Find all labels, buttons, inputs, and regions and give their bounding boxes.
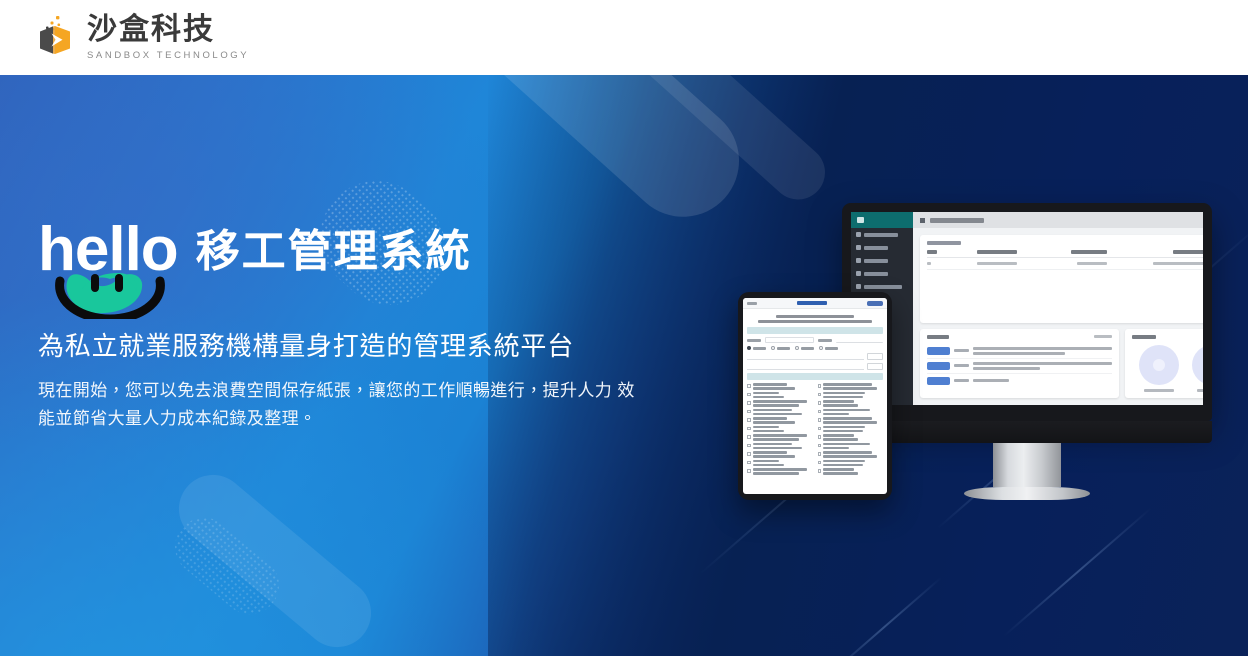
nationality-radio-group: [747, 346, 883, 350]
declaration-checkbox-item[interactable]: [818, 409, 884, 416]
back-button[interactable]: [747, 302, 757, 305]
checkbox-label: [753, 400, 813, 407]
user-avatar[interactable]: [867, 301, 883, 306]
table-row[interactable]: [927, 258, 1203, 271]
monitor-stand-neck: [993, 443, 1061, 487]
checkbox-label: [753, 409, 813, 416]
app-topbar: [913, 212, 1203, 228]
employer-search-row: [747, 353, 883, 360]
desktop-monitor-mockup: [842, 203, 1212, 500]
monitor-stand-base: [964, 487, 1090, 500]
checkbox-icon: [747, 469, 751, 473]
field-label: [818, 339, 832, 342]
checkbox-label: [823, 426, 883, 433]
notice-item[interactable]: [927, 359, 1112, 374]
notice-card: [920, 329, 1119, 399]
notice-text: [973, 347, 1112, 355]
radio-dot-icon: [819, 346, 823, 350]
field-label: [747, 339, 761, 342]
notice-date: [954, 349, 969, 352]
stat-donut-chart: [1192, 345, 1203, 385]
app-sidebar-logo: [851, 212, 913, 228]
notice-card-header: [927, 335, 1112, 339]
checkbox-label: [753, 434, 813, 441]
document-icon: [856, 284, 861, 289]
landing-page: 沙盒科技 SANDBOX TECHNOLOGY hello 移工管理系統: [0, 0, 1248, 656]
date-input[interactable]: [765, 337, 814, 343]
declaration-checkbox-item[interactable]: [818, 383, 884, 390]
checkbox-icon: [747, 393, 751, 397]
sidebar-item-label: [864, 285, 902, 289]
declaration-checkbox-item[interactable]: [818, 443, 884, 450]
checkbox-label: [753, 460, 813, 467]
checkbox-label: [823, 383, 883, 390]
notice-more-link[interactable]: [1094, 335, 1112, 338]
radio-dot-icon: [771, 346, 775, 350]
brand-name-en: SANDBOX TECHNOLOGY: [87, 51, 249, 61]
radio-option[interactable]: [747, 346, 766, 350]
worker-search-button[interactable]: [867, 363, 883, 370]
checkbox-label: [823, 443, 883, 450]
notice-card-title: [927, 335, 949, 339]
radio-option[interactable]: [771, 346, 790, 350]
notice-item[interactable]: [927, 374, 1112, 388]
declaration-checkbox-item[interactable]: [747, 409, 813, 416]
radio-label: [777, 347, 790, 350]
declaration-checkbox-item[interactable]: [747, 426, 813, 433]
app-content: [913, 228, 1203, 405]
declaration-checkbox-item[interactable]: [747, 443, 813, 450]
sidebar-item-label: [864, 259, 888, 263]
checkbox-label: [753, 383, 813, 390]
radio-option[interactable]: [795, 346, 814, 350]
worker-search-row: [747, 363, 883, 370]
stats-list: [1132, 339, 1203, 393]
employer-search-button[interactable]: [867, 353, 883, 360]
brand-text: 沙盒科技 SANDBOX TECHNOLOGY: [87, 15, 249, 61]
site-header: 沙盒科技 SANDBOX TECHNOLOGY: [0, 0, 1248, 75]
sidebar-item-staff[interactable]: [851, 241, 913, 254]
monitor-screen: [851, 212, 1203, 405]
brand-logo[interactable]: 沙盒科技 SANDBOX TECHNOLOGY: [32, 13, 249, 63]
notice-badge: [927, 362, 950, 370]
text-input[interactable]: [836, 337, 883, 343]
declaration-checkbox-item[interactable]: [818, 468, 884, 475]
sidebar-item-company[interactable]: [851, 228, 913, 241]
td-date: [977, 262, 1017, 266]
user-icon: [856, 245, 861, 250]
notice-item[interactable]: [927, 344, 1112, 359]
group-icon: [856, 271, 861, 276]
declaration-checkbox-grid: [747, 383, 883, 475]
checkbox-icon: [747, 427, 751, 431]
checkbox-label: [753, 417, 813, 424]
sidebar-item-employer[interactable]: [851, 267, 913, 280]
declaration-checkbox-item[interactable]: [818, 460, 884, 467]
radio-label: [801, 347, 814, 350]
checkbox-label: [753, 392, 813, 399]
tablet-navbar: [743, 298, 887, 309]
card-title: [927, 241, 961, 245]
stat-label: [1144, 389, 1174, 393]
form-row: [747, 337, 883, 343]
th-date: [977, 250, 1017, 254]
td-index: [927, 262, 931, 266]
notice-date: [954, 364, 969, 367]
stat-value: [1153, 359, 1165, 371]
app-title: [930, 218, 984, 223]
checkbox-icon: [818, 427, 822, 431]
tablet-mockup: [738, 292, 892, 500]
hero-banner: hello 移工管理系統 為私立就業服務機構量身打造的管理系統平台 現在開始，您…: [0, 75, 1248, 656]
checkbox-icon: [818, 410, 822, 414]
checkbox-icon: [747, 461, 751, 465]
declaration-checkbox-item[interactable]: [818, 451, 884, 458]
employer-search-input[interactable]: [747, 353, 864, 360]
checkbox-label: [753, 468, 813, 475]
declaration-checkbox-item[interactable]: [747, 434, 813, 441]
sidebar-item-label: [864, 246, 888, 250]
checkbox-label: [823, 417, 883, 424]
notice-badge: [927, 347, 950, 355]
checkbox-label: [823, 409, 883, 416]
checkbox-icon: [818, 384, 822, 388]
declaration-checkbox-item[interactable]: [747, 400, 813, 407]
tablet-form: [743, 309, 887, 494]
checkbox-label: [753, 451, 813, 458]
declaration-checkbox-item[interactable]: [818, 400, 884, 407]
checkbox-icon: [818, 461, 822, 465]
form-section-header-declaration: [747, 373, 883, 380]
radio-option[interactable]: [819, 346, 838, 350]
monitor-bezel: [842, 203, 1212, 421]
declaration-checkbox-item[interactable]: [747, 417, 813, 424]
stat-label: [1197, 389, 1203, 393]
form-section-header-basic: [747, 327, 883, 334]
form-title: [776, 315, 855, 318]
sidebar-item-migrant[interactable]: [851, 254, 913, 267]
dashboard-lower-row: [920, 329, 1203, 399]
notice-text: [973, 379, 1112, 382]
checkbox-label: [753, 443, 813, 450]
radio-label: [825, 347, 838, 350]
worker-search-input[interactable]: [747, 363, 864, 370]
declaration-checkbox-item[interactable]: [818, 392, 884, 399]
checkbox-label: [823, 400, 883, 407]
building-icon: [856, 232, 861, 237]
checkbox-label: [823, 392, 883, 399]
th-author: [1071, 250, 1107, 254]
declaration-checkbox-item[interactable]: [747, 468, 813, 475]
declaration-checkbox-item[interactable]: [747, 392, 813, 399]
checkbox-label: [823, 460, 883, 467]
stats-card: [1125, 329, 1203, 399]
checkbox-label: [753, 426, 813, 433]
checkbox-icon: [747, 410, 751, 414]
stat-item: [1192, 345, 1203, 393]
radio-dot-icon: [795, 346, 799, 350]
tablet-screen: [743, 298, 887, 494]
notice-text: [973, 362, 1112, 370]
declaration-checkbox-item[interactable]: [747, 460, 813, 467]
app-logo-icon: [857, 217, 864, 223]
checkbox-icon: [818, 435, 822, 439]
checkbox-icon: [747, 384, 751, 388]
checkbox-label: [823, 468, 883, 475]
td-author: [1077, 262, 1107, 266]
checkbox-label: [823, 451, 883, 458]
sidebar-item-label: [864, 272, 888, 276]
checkbox-icon: [818, 393, 822, 397]
checkbox-icon: [747, 452, 751, 456]
stats-card-title: [1132, 335, 1156, 339]
td-title: [1153, 262, 1203, 266]
th-title: [1173, 250, 1203, 254]
stat-item: [1139, 345, 1179, 393]
table-header-row: [927, 250, 1203, 258]
declaration-checkbox-item[interactable]: [818, 426, 884, 433]
declaration-checkbox-item[interactable]: [747, 383, 813, 390]
declaration-checkbox-item[interactable]: [818, 417, 884, 424]
notice-date: [954, 379, 969, 382]
sidebar-item-label: [864, 233, 898, 237]
id-card-icon: [856, 258, 861, 263]
checkbox-icon: [818, 452, 822, 456]
checkbox-icon: [747, 418, 751, 422]
notice-badge: [927, 377, 950, 385]
declaration-checkbox-item[interactable]: [747, 451, 813, 458]
device-mockups: [0, 75, 1248, 656]
checkbox-icon: [747, 435, 751, 439]
checkbox-icon: [818, 469, 822, 473]
checkbox-icon: [747, 444, 751, 448]
checkbox-label: [823, 434, 883, 441]
brand-name-cn: 沙盒科技: [87, 15, 249, 45]
checkbox-icon: [818, 401, 822, 405]
form-title-block: [747, 315, 883, 323]
th-index: [927, 250, 937, 254]
declaration-checkbox-item[interactable]: [818, 434, 884, 441]
form-subtitle: [758, 320, 872, 323]
announcement-table-card: [920, 235, 1203, 323]
hamburger-icon[interactable]: [920, 218, 925, 223]
tablet-app-logo-icon: [797, 301, 827, 305]
app-main: [913, 212, 1203, 405]
checkbox-icon: [818, 418, 822, 422]
monitor-chin: [842, 421, 1212, 443]
checkbox-icon: [747, 401, 751, 405]
checkbox-icon: [818, 444, 822, 448]
radio-dot-icon: [747, 346, 751, 350]
stat-donut-chart: [1139, 345, 1179, 385]
radio-label: [753, 347, 766, 350]
sandbox-cube-logo-icon: [32, 13, 78, 63]
